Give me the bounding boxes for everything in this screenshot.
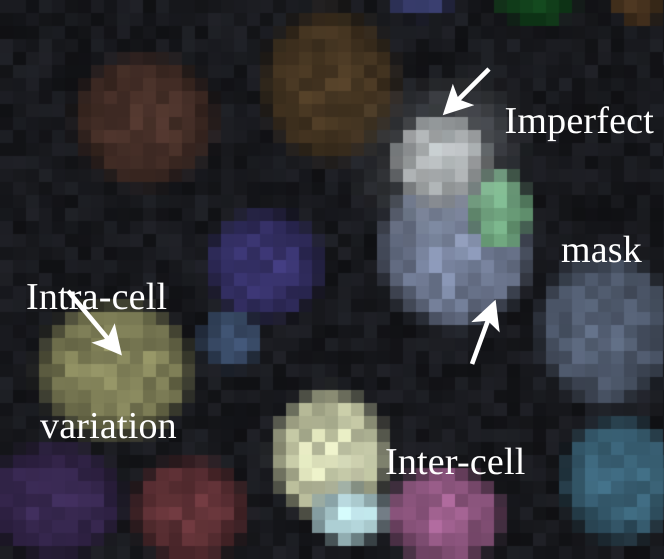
annotated-microscopy-image: Imperfect mask Intra-cell variation Inte… [0, 0, 664, 559]
pixelated-cell-mosaic [0, 0, 664, 559]
